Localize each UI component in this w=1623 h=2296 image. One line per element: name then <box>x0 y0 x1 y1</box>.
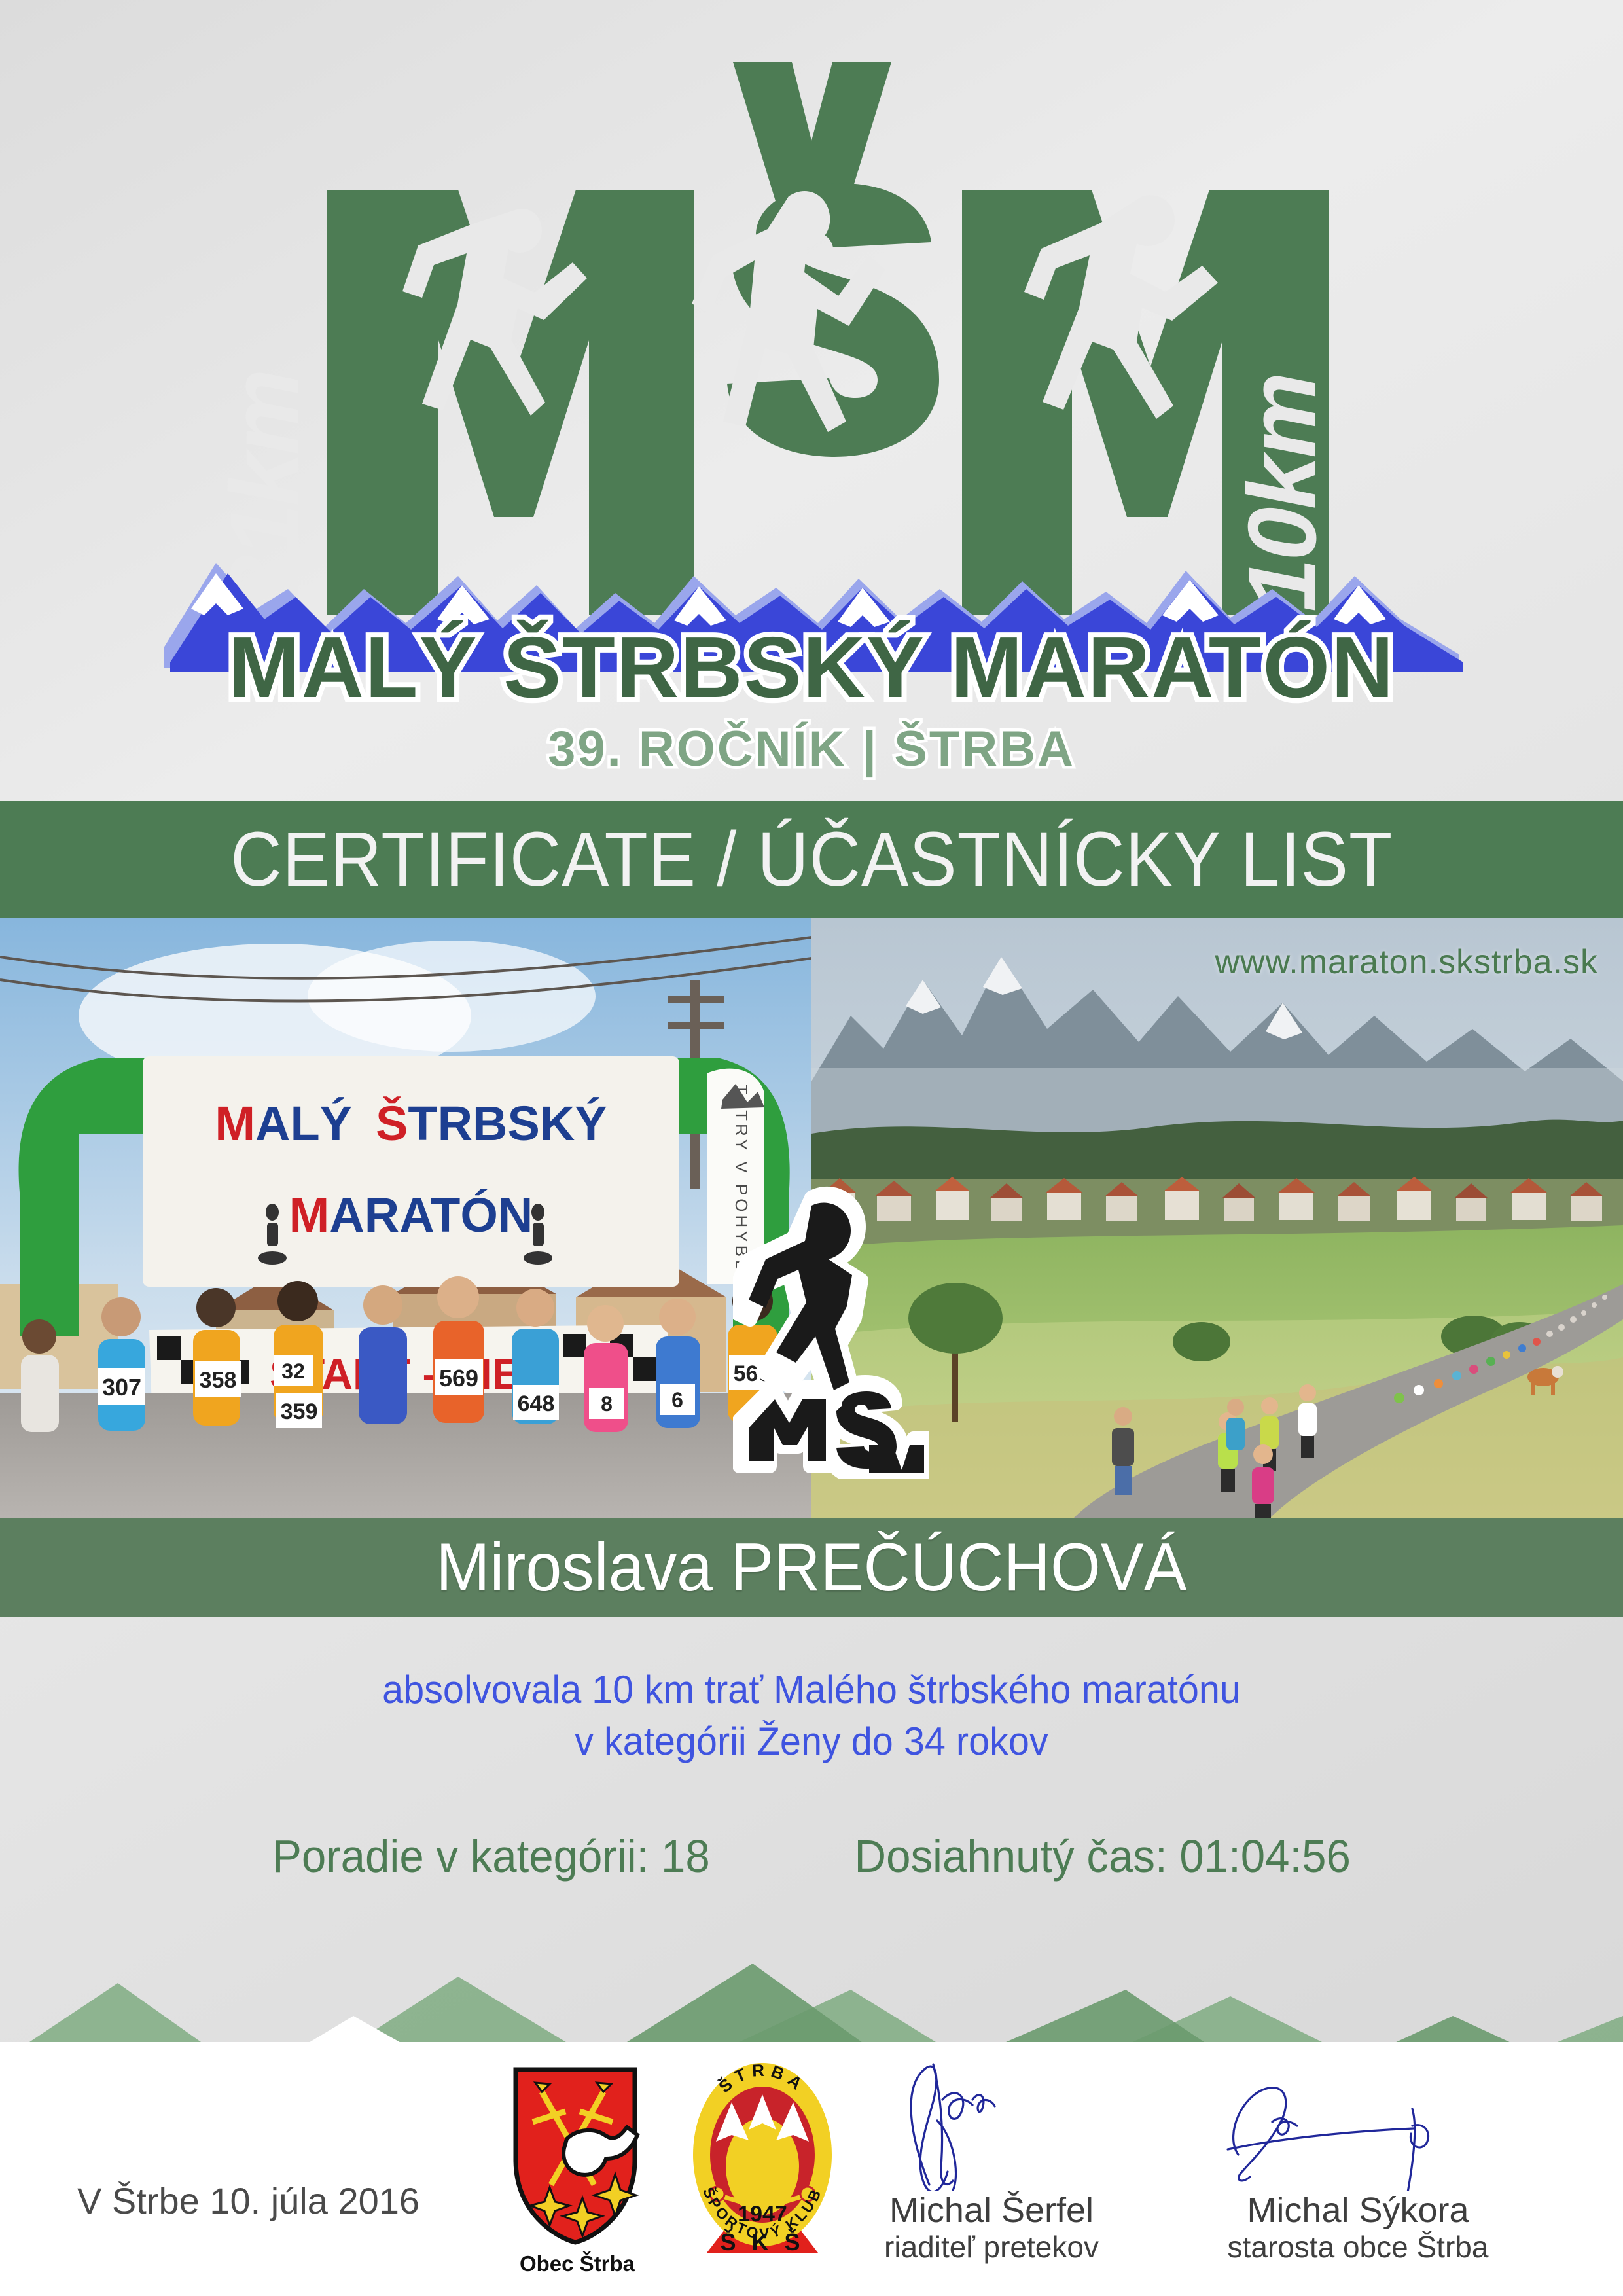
participant-name-bar: Miroslava PREČÚCHOVÁ <box>0 1518 1623 1617</box>
left-distance-label: 31km <box>211 371 319 609</box>
svg-text:358: 358 <box>200 1368 237 1393</box>
spectator <box>1112 1407 1134 1495</box>
svg-text:6: 6 <box>671 1388 683 1412</box>
certificate-title: CERTIFICATE / ÚČASTNÍCKY LIST <box>230 815 1393 904</box>
signature-scribble-serfel <box>838 2060 1145 2191</box>
sks-club-logo: 1947 ŠTRBA ŠPORTOVÝ KLUB Š K Š <box>681 2056 844 2272</box>
photo-start-line: MALÝŠTRBSKÝ MARATÓN <box>0 918 811 1518</box>
finish-time: Dosiahnutý čas: 01:04:56 <box>855 1830 1351 1882</box>
signer-role-2: starosta obce Štrba <box>1204 2229 1512 2265</box>
logo-header: 31km 10km <box>0 0 1623 795</box>
event-subtitle: 39. ROČNÍK | ŠTRBA <box>548 721 1075 778</box>
signer-name-1: Michal Šerfel <box>838 2191 1145 2229</box>
svg-text:32: 32 <box>281 1359 305 1383</box>
pink-runner <box>1252 1444 1274 1518</box>
svg-text:359: 359 <box>281 1399 318 1424</box>
certificate-title-bar: CERTIFICATE / ÚČASTNÍCKY LIST <box>0 801 1623 918</box>
svg-text:648: 648 <box>518 1391 555 1416</box>
signer-name-2: Michal Sýkora <box>1204 2191 1512 2229</box>
achievement-description: absolvovala 10 km trať Malého štrbského … <box>33 1664 1591 1767</box>
website-url: www.maraton.skstrba.sk <box>1215 942 1599 982</box>
photo-countryside: www.maraton.skstrba.sk <box>811 918 1623 1518</box>
svg-text:10km: 10km <box>1228 374 1336 612</box>
participant-name: Miroslava PREČÚCHOVÁ <box>436 1529 1186 1607</box>
event-title: MALÝ ŠTRBSKÝ MARATÓN <box>228 619 1395 715</box>
letter-m-left <box>327 190 694 615</box>
svg-text:569: 569 <box>439 1365 478 1391</box>
signer-role-1: riaditeľ pretekov <box>838 2229 1145 2265</box>
svg-text:MALÝŠTRBSKÝ: MALÝŠTRBSKÝ <box>215 1096 607 1151</box>
obec-strba-caption: Obec Štrba <box>520 2251 635 2276</box>
category-rank: Poradie v kategórii: 18 <box>272 1830 710 1882</box>
description-line-2: v kategórii Ženy do 34 rokov <box>33 1715 1591 1767</box>
certificate-page: 31km 10km <box>0 0 1623 2296</box>
description-line-1: absolvovala 10 km trať Malého štrbského … <box>33 1664 1591 1715</box>
svg-text:31km: 31km <box>211 371 319 609</box>
msm-logo-graphic: 31km 10km <box>0 0 1623 795</box>
right-distance-label: 10km <box>1228 374 1336 612</box>
result-row: Poradie v kategórii: 18 Dosiahnutý čas: … <box>33 1830 1591 1882</box>
sks-bottom-text: Š K Š <box>720 2228 804 2255</box>
obec-strba-crest: Obec Štrba <box>504 2062 658 2278</box>
signature-block-director: Michal Šerfel riaditeľ pretekov <box>838 2060 1145 2265</box>
svg-text:8: 8 <box>601 1392 613 1416</box>
signature-scribble-sykora <box>1204 2060 1512 2191</box>
arch-banner-panel <box>143 1056 679 1287</box>
svg-text:307: 307 <box>102 1374 141 1401</box>
issue-place-date: V Štrbe 10. júla 2016 <box>77 2179 419 2222</box>
footer: V Štrbe 10. júla 2016 Obec <box>0 2049 1623 2296</box>
signature-block-mayor: Michal Sýkora starosta obce Štrba <box>1204 2060 1512 2265</box>
msm-runner-emblem <box>733 1172 929 1479</box>
svg-text:MARATÓN: MARATÓN <box>289 1188 533 1242</box>
